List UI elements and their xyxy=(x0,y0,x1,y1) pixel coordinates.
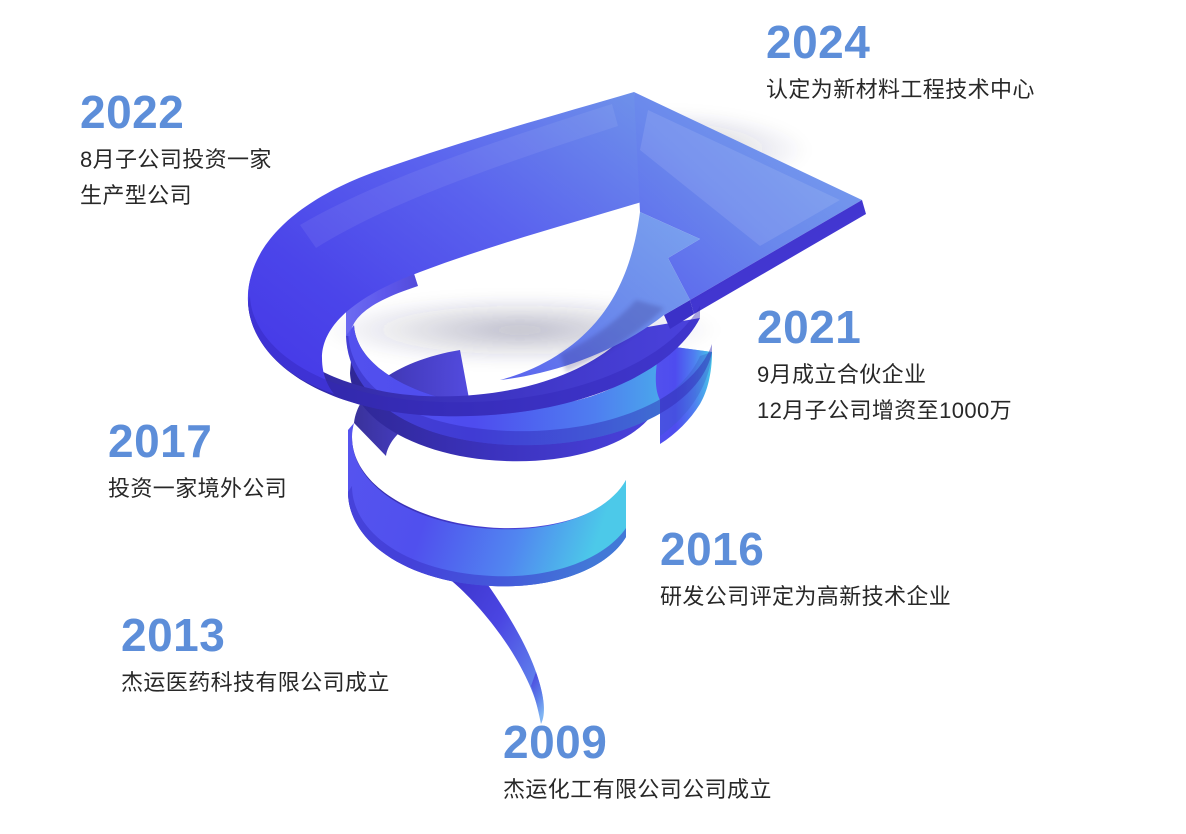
milestone-desc-2009-line-1: 杰运化工有限公司公司成立 xyxy=(503,772,772,808)
milestone-desc-2021-line-2: 12月子公司增资至1000万 xyxy=(757,393,1012,429)
milestone-2017: 2017 投资一家境外公司 xyxy=(108,417,287,507)
milestone-2021: 2021 9月成立合伙企业 12月子公司增资至1000万 xyxy=(757,303,1012,429)
milestone-desc-2021-line-1: 9月成立合伙企业 xyxy=(757,357,1012,393)
milestone-2016: 2016 研发公司评定为高新技术企业 xyxy=(660,525,951,615)
timeline-infographic: 2022 8月子公司投资一家 生产型公司 2024 认定为新材料工程技术中心 2… xyxy=(0,0,1186,834)
milestone-year-2022: 2022 xyxy=(80,88,272,136)
milestone-desc-2022-line-2: 生产型公司 xyxy=(80,178,272,214)
milestone-desc-2016-line-1: 研发公司评定为高新技术企业 xyxy=(660,579,951,615)
milestone-desc-2013-line-1: 杰运医药科技有限公司成立 xyxy=(121,665,390,701)
milestone-desc-2022-line-1: 8月子公司投资一家 xyxy=(80,142,272,178)
milestone-2022: 2022 8月子公司投资一家 生产型公司 xyxy=(80,88,272,214)
milestone-2024: 2024 认定为新材料工程技术中心 xyxy=(766,18,1035,108)
milestone-2013: 2013 杰运医药科技有限公司成立 xyxy=(121,611,390,701)
milestone-year-2009: 2009 xyxy=(503,718,772,766)
milestone-year-2013: 2013 xyxy=(121,611,390,659)
milestone-year-2017: 2017 xyxy=(108,417,287,465)
milestone-desc-2024-line-1: 认定为新材料工程技术中心 xyxy=(766,72,1035,108)
milestone-2009: 2009 杰运化工有限公司公司成立 xyxy=(503,718,772,808)
milestone-desc-2017-line-1: 投资一家境外公司 xyxy=(108,471,287,507)
milestone-year-2024: 2024 xyxy=(766,18,1035,66)
milestone-year-2021: 2021 xyxy=(757,303,1012,351)
milestone-year-2016: 2016 xyxy=(660,525,951,573)
